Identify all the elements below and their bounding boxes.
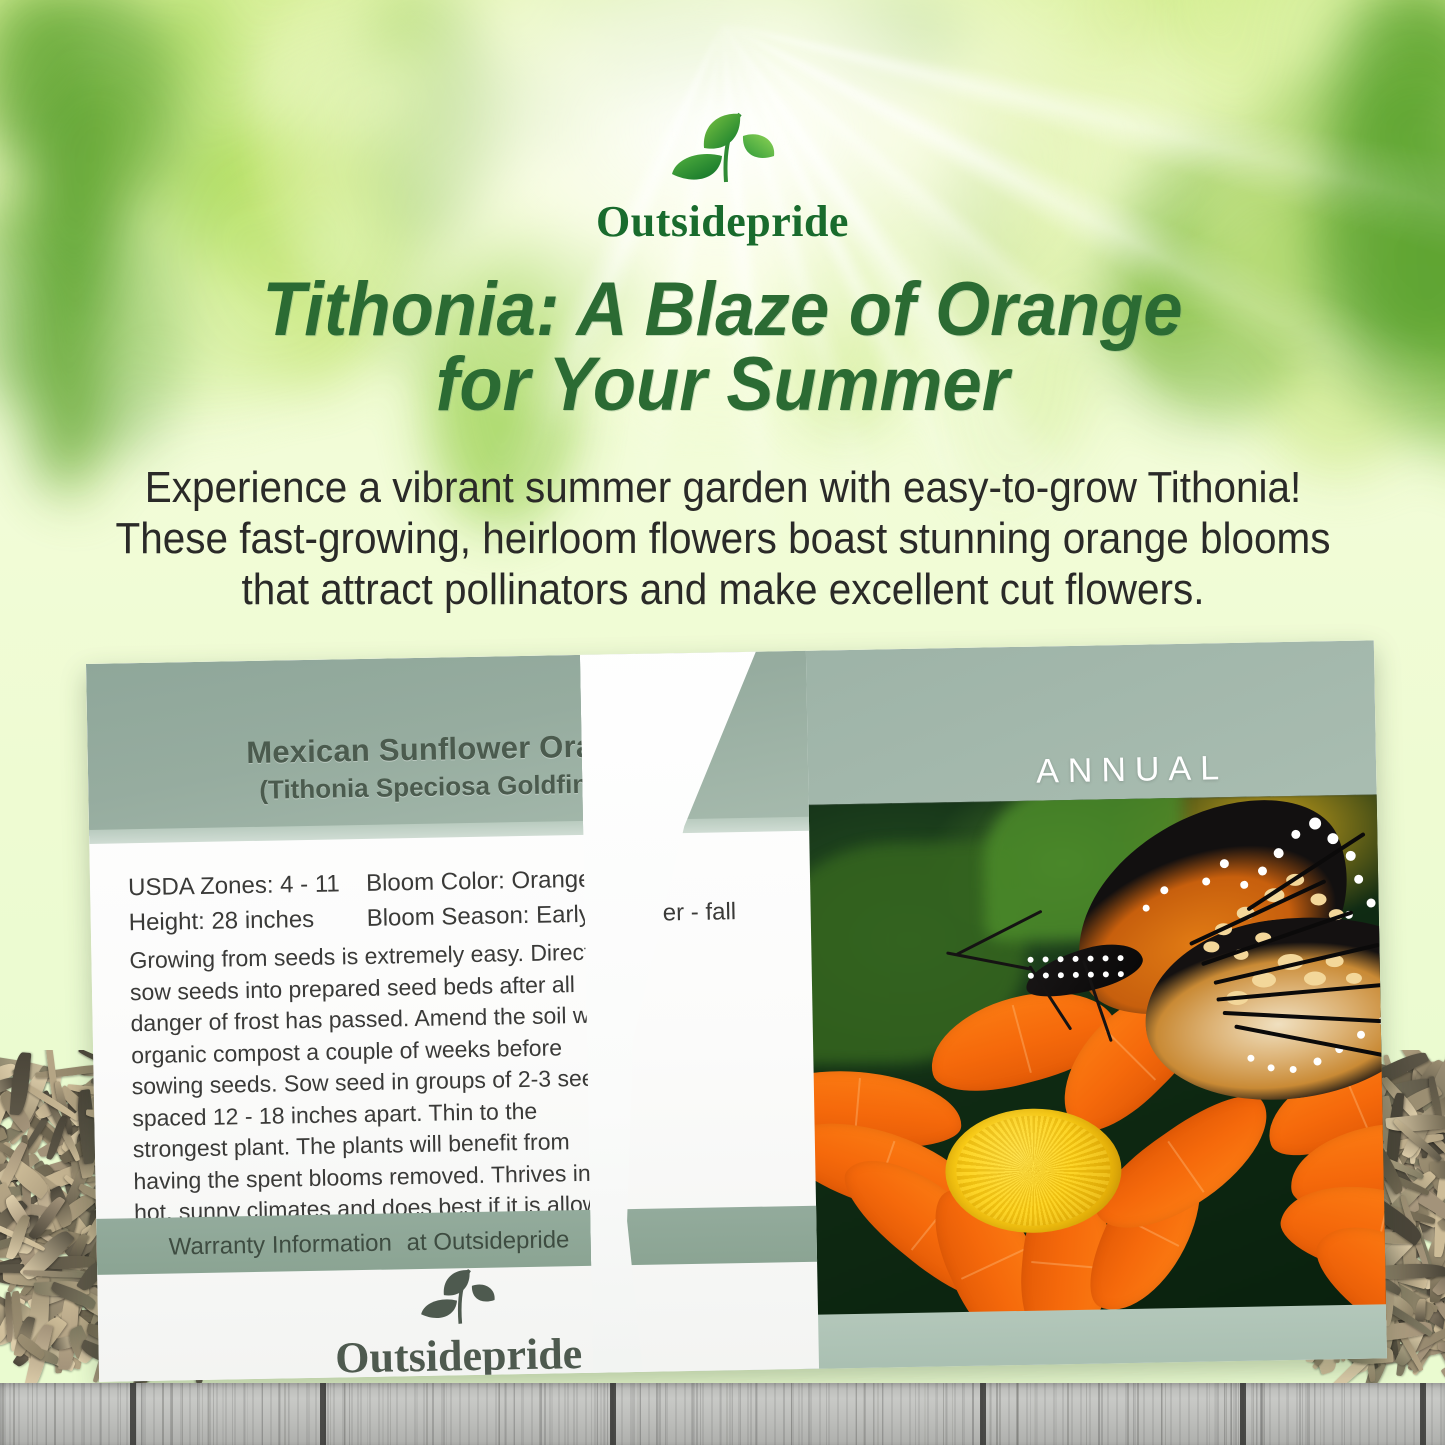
hero-subcopy: Experience a vibrant summer garden with … bbox=[111, 462, 1335, 615]
spec-height: Height: 28 inches bbox=[128, 902, 367, 939]
spec-usda-zones: USDA Zones: 4 - 11 bbox=[128, 867, 367, 904]
spec-bloom-season: Bloom Season: Early summer - fall bbox=[366, 895, 769, 935]
wooden-surface bbox=[0, 1383, 1445, 1445]
warranty-information-label: Warranty Information bbox=[168, 1229, 392, 1261]
page-title: Tithonia: A Blaze of Orange for Your Sum… bbox=[51, 272, 1395, 422]
brand-logo: Outsidepride bbox=[0, 96, 1445, 247]
seed-packet: ANNUAL Mexican Sunflower Orange (Tithoni… bbox=[86, 640, 1387, 1381]
brand-wordmark: Outsidepride bbox=[0, 196, 1445, 247]
product-marketing-image: Outsidepride Tithonia: A Blaze of Orange… bbox=[0, 0, 1445, 1445]
spec-bloom-color: Bloom Color: Orange bbox=[366, 860, 769, 900]
seedling-leaf-icon bbox=[648, 96, 798, 204]
monarch-butterfly bbox=[913, 811, 1387, 1150]
headline-line-1: Tithonia: A Blaze of Orange bbox=[262, 267, 1182, 352]
seedling-leaf-icon bbox=[392, 1256, 523, 1336]
warranty-at-brand-label: at Outsidepride bbox=[406, 1226, 569, 1257]
headline-line-2: for Your Summer bbox=[51, 347, 1395, 422]
packet-photo bbox=[803, 793, 1387, 1331]
